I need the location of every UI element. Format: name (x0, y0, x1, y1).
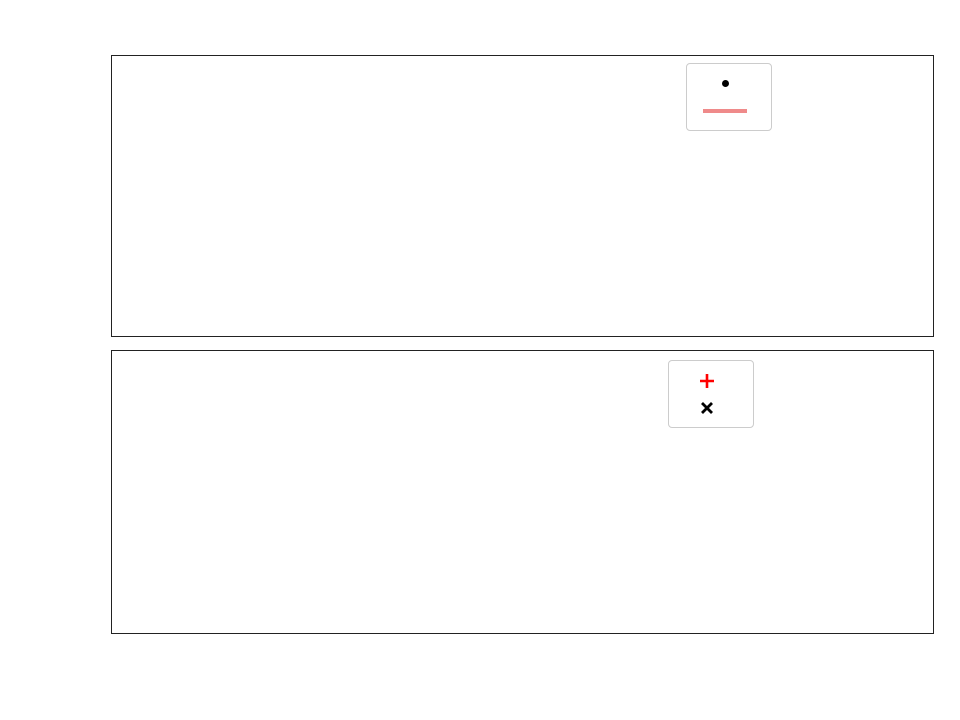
measurements-marker-icon (697, 80, 753, 87)
legend-item-threshold[interactable] (697, 97, 759, 124)
plus-marker-icon (679, 370, 735, 392)
top-panel-axes (111, 55, 934, 337)
legend-item-matched-stars[interactable] (679, 367, 741, 394)
top-panel-legend (686, 63, 772, 131)
cross-marker-icon (679, 397, 735, 419)
bottom-panel-axes (111, 350, 934, 634)
threshold-line-icon (697, 109, 753, 113)
legend-item-predicted-stars[interactable] (679, 394, 741, 421)
legend-item-measurements[interactable] (697, 70, 759, 97)
bottom-panel-legend (668, 360, 754, 428)
figure-canvas (0, 0, 960, 720)
bottom-panel-plot-area (112, 351, 933, 633)
top-panel-plot-area (112, 56, 933, 336)
